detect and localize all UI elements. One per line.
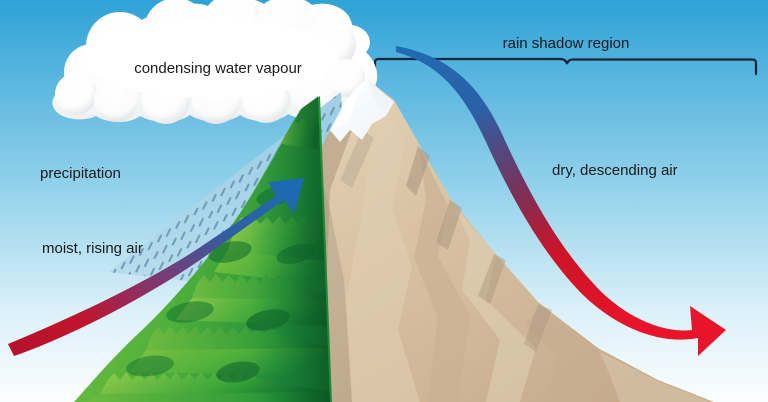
- label-moist-rising-air: moist, rising air: [42, 240, 143, 257]
- label-precipitation: precipitation: [40, 165, 121, 182]
- rain-shadow-diagram: condensing water vapour precipitation mo…: [0, 0, 768, 402]
- label-condensing-water-vapour: condensing water vapour: [134, 60, 302, 77]
- label-rain-shadow-region: rain shadow region: [503, 35, 630, 52]
- diagram-canvas: condensing water vapour precipitation mo…: [0, 0, 768, 402]
- label-dry-descending-air: dry, descending air: [552, 162, 678, 179]
